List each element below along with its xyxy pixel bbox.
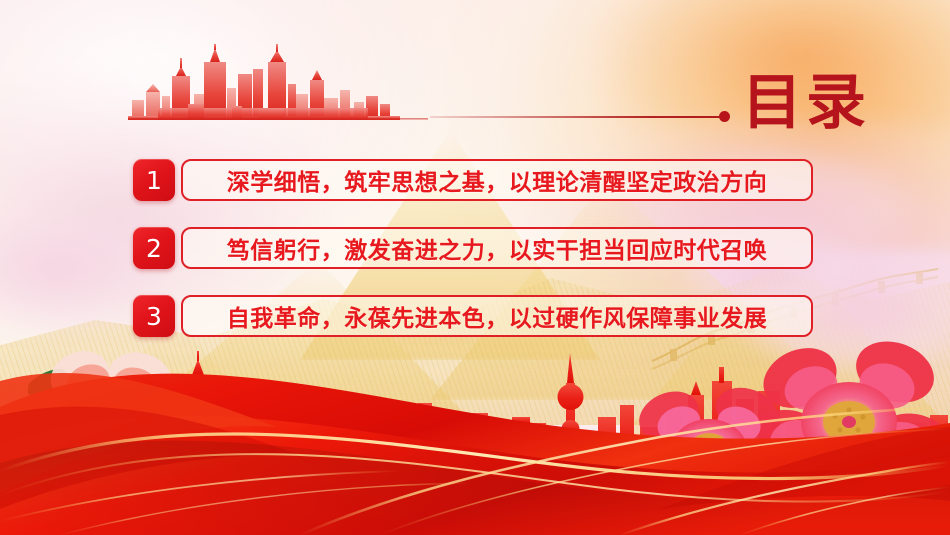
peony-flower-icon xyxy=(625,378,800,518)
toc-item-number: 1 xyxy=(133,159,175,201)
title-rule-dot-icon xyxy=(719,111,730,122)
toc-item-pill[interactable]: 笃信躬行，激发奋进之力，以实干担当回应时代召唤 xyxy=(181,227,813,269)
toc-item-label: 自我革命，永葆先进本色，以过硬作风保障事业发展 xyxy=(227,299,768,333)
title-row: 目录 xyxy=(0,70,950,140)
toc-item[interactable]: 3 自我革命，永葆先进本色，以过硬作风保障事业发展 xyxy=(133,294,813,338)
title-rule xyxy=(430,116,722,118)
toc-item[interactable]: 1 深学细悟，筑牢思想之基，以理论清醒坚定政治方向 xyxy=(133,158,813,202)
toc-item-pill[interactable]: 自我革命，永葆先进本色，以过硬作风保障事业发展 xyxy=(181,295,813,337)
toc-item-number: 2 xyxy=(133,227,175,269)
toc-item-number: 3 xyxy=(133,295,175,337)
toc-list: 1 深学细悟，筑牢思想之基，以理论清醒坚定政治方向 2 笃信躬行，激发奋进之力，… xyxy=(133,158,813,362)
toc-item-label: 深学细悟，筑牢思想之基，以理论清醒坚定政治方向 xyxy=(227,163,768,197)
page-title: 目录 xyxy=(742,70,870,136)
toc-item-label: 笃信躬行，激发奋进之力，以实干担当回应时代召唤 xyxy=(227,231,768,265)
toc-item-pill[interactable]: 深学细悟，筑牢思想之基，以理论清醒坚定政治方向 xyxy=(181,159,813,201)
peony-flower-icon xyxy=(130,412,250,512)
toc-item[interactable]: 2 笃信躬行，激发奋进之力，以实干担当回应时代召唤 xyxy=(133,226,813,270)
slide-root: 目录 1 深学细悟，筑牢思想之基，以理论清醒坚定政治方向 2 笃信躬行，激发奋进… xyxy=(0,0,950,535)
